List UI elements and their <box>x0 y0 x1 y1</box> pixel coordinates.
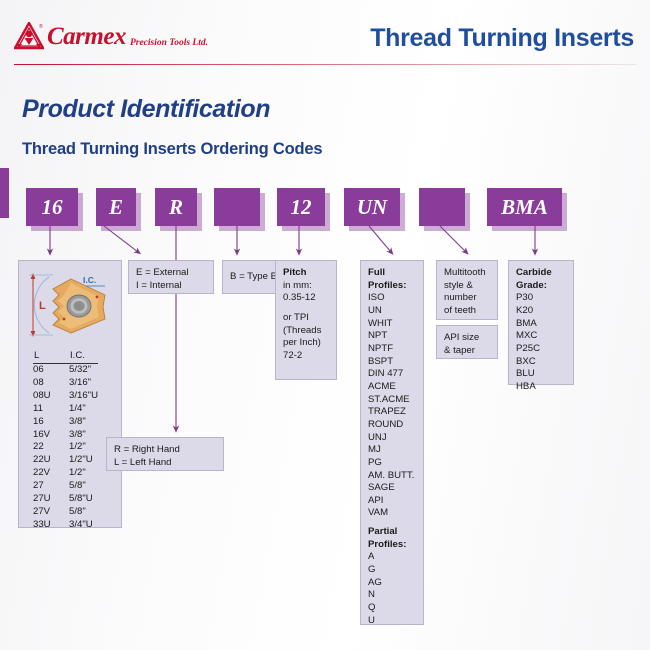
cell-ic: 1/2" <box>69 467 98 480</box>
full-profile-item: BSPT <box>368 356 416 369</box>
grade-item: BLU <box>516 368 566 381</box>
cell-l: 06 <box>33 363 69 376</box>
full-profile-item: AM. BUTT. <box>368 470 416 483</box>
multitooth-line2: style & <box>444 280 490 293</box>
page-root: ® Carmex Precision Tools Ltd. Thread Tur… <box>0 0 650 650</box>
hand-direction-box: R = Right Hand L = Left Hand <box>106 437 224 471</box>
table-row: 163/8" <box>33 416 98 429</box>
insert-size-box: L I.C. L <box>18 260 122 528</box>
full-profile-item: ISO <box>368 292 416 305</box>
grade-item: BMA <box>516 318 566 331</box>
partial-profile-item: A <box>368 551 416 564</box>
table-row: 22V1/2" <box>33 467 98 480</box>
full-profile-item: TRAPEZ <box>368 406 416 419</box>
table-row: 065/32" <box>33 363 98 376</box>
pitch-tpi-note1: (Threads <box>283 325 329 338</box>
full-profile-item: VAM <box>368 507 416 520</box>
multitooth-line4: of teeth <box>444 305 490 318</box>
code-box-size[interactable]: 16 <box>26 188 78 226</box>
pitch-tpi-note2: per Inch) <box>283 337 329 350</box>
api-line1: API size <box>444 332 490 345</box>
pitch-title: Pitch <box>283 267 329 280</box>
full-profile-item: ROUND <box>368 419 416 432</box>
brand-tagline: Precision Tools Ltd. <box>130 38 208 50</box>
grade-item: MXC <box>516 330 566 343</box>
table-row: 27V5/8" <box>33 506 98 519</box>
insert-diagram: L I.C. <box>19 261 121 347</box>
cell-l: 22U <box>33 454 69 467</box>
cell-l: 22 <box>33 441 69 454</box>
cell-ic: 1/4" <box>69 403 98 416</box>
carmex-triangle-icon: ® <box>14 22 44 50</box>
grade-list: P30K20BMAMXCP25CBXCBLUHBA <box>516 292 566 393</box>
svg-text:®: ® <box>39 23 43 30</box>
right-hand-line: R = Right Hand <box>114 444 216 457</box>
full-profile-item: ST.ACME <box>368 394 416 407</box>
cell-ic: 3/4"U <box>69 519 98 532</box>
full-profile-item: UNJ <box>368 432 416 445</box>
type-b-line: B = Type B <box>230 271 277 284</box>
brand-name: Carmex <box>47 24 126 49</box>
cell-l: 27U <box>33 493 69 506</box>
multitooth-line1: Multitooth <box>444 267 490 280</box>
col-header-ic: I.C. <box>69 349 98 363</box>
svg-text:L: L <box>39 300 46 312</box>
pitch-mm-label: in mm: <box>283 280 329 293</box>
code-box-hand-type[interactable]: E <box>96 188 136 226</box>
full-profile-item: API <box>368 495 416 508</box>
partial-profile-item: AG <box>368 577 416 590</box>
table-row: 16V3/8" <box>33 429 98 442</box>
full-profiles-title-1: Full <box>368 267 416 280</box>
external-internal-box: E = External I = Internal <box>128 260 214 294</box>
grade-title-2: Grade: <box>516 280 566 293</box>
cell-ic: 1/2" <box>69 441 98 454</box>
pitch-tpi-label: or TPI <box>283 312 329 325</box>
carmex-logo: ® Carmex Precision Tools Ltd. <box>14 22 208 50</box>
api-size-box: API size & taper <box>436 325 498 359</box>
full-profile-item: PG <box>368 457 416 470</box>
grade-title-1: Carbide <box>516 267 566 280</box>
cell-ic: 1/2"U <box>69 454 98 467</box>
cell-l: 08 <box>33 377 69 390</box>
code-box-type[interactable]: R <box>155 188 197 226</box>
multitooth-box: Multitooth style & number of teeth <box>436 260 498 320</box>
document-title: Thread Turning Inserts <box>370 24 634 53</box>
carbide-grade-box: Carbide Grade: P30K20BMAMXCP25CBXCBLUHBA <box>508 260 574 385</box>
full-profile-item: UN <box>368 305 416 318</box>
full-profile-item: MJ <box>368 444 416 457</box>
table-row: 111/4" <box>33 403 98 416</box>
multitooth-line3: number <box>444 292 490 305</box>
cell-ic: 3/16" <box>69 377 98 390</box>
code-box-multitooth[interactable] <box>419 188 465 226</box>
api-line2: & taper <box>444 345 490 358</box>
full-profile-item: NPT <box>368 330 416 343</box>
external-line: E = External <box>136 267 206 280</box>
table-row: 221/2" <box>33 441 98 454</box>
table-row: 22U1/2"U <box>33 454 98 467</box>
grade-item: HBA <box>516 381 566 394</box>
cell-l: 33U <box>33 519 69 532</box>
full-profile-item: NPTF <box>368 343 416 356</box>
full-profile-item: WHIT <box>368 318 416 331</box>
cell-l: 16V <box>33 429 69 442</box>
grade-item: BXC <box>516 356 566 369</box>
pitch-tpi-range: 72-2 <box>283 350 329 363</box>
profiles-box: Full Profiles: ISOUNWHITNPTNPTFBSPTDIN 4… <box>360 260 424 625</box>
cell-l: 08U <box>33 390 69 403</box>
grade-item: P25C <box>516 343 566 356</box>
left-hand-line: L = Left Hand <box>114 457 216 470</box>
code-box-grade[interactable]: BMA <box>487 188 562 226</box>
full-profiles-list: ISOUNWHITNPTNPTFBSPTDIN 477ACMEST.ACMETR… <box>368 292 416 520</box>
table-header-row: L I.C. <box>33 349 98 363</box>
page-header: ® Carmex Precision Tools Ltd. Thread Tur… <box>0 0 650 70</box>
partial-profile-item: G <box>368 564 416 577</box>
cell-l: 22V <box>33 467 69 480</box>
table-row: 27U5/8"U <box>33 493 98 506</box>
table-row: 33U3/4"U <box>33 519 98 532</box>
cell-l: 27 <box>33 480 69 493</box>
partial-profiles-title-2: Profiles: <box>368 539 416 552</box>
cell-l: 27V <box>33 506 69 519</box>
pitch-mm-range: 0.35-12 <box>283 292 329 305</box>
partial-profile-item: U <box>368 615 416 628</box>
partial-profile-item: Q <box>368 602 416 615</box>
code-box-profile[interactable]: UN <box>344 188 400 226</box>
partial-profiles-title-1: Partial <box>368 526 416 539</box>
cell-ic: 5/8"U <box>69 493 98 506</box>
cell-l: 11 <box>33 403 69 416</box>
grade-item: P30 <box>516 292 566 305</box>
code-box-pitch[interactable]: 12 <box>277 188 325 226</box>
partial-profiles-list: AGAGNQU <box>368 551 416 627</box>
table-row: 083/16" <box>33 377 98 390</box>
full-profile-item: ACME <box>368 381 416 394</box>
header-divider <box>14 64 636 65</box>
page-subtitle: Thread Turning Inserts Ordering Codes <box>22 140 322 159</box>
code-box-direction[interactable] <box>214 188 260 226</box>
internal-line: I = Internal <box>136 280 206 293</box>
cell-l: 16 <box>33 416 69 429</box>
cell-ic: 3/16"U <box>69 390 98 403</box>
cell-ic: 5/32" <box>69 363 98 376</box>
cell-ic: 3/8" <box>69 429 98 442</box>
table-row: 08U3/16"U <box>33 390 98 403</box>
full-profile-item: DIN 477 <box>368 368 416 381</box>
cell-ic: 5/8" <box>69 480 98 493</box>
col-header-l: L <box>33 349 69 363</box>
pitch-box: Pitch in mm: 0.35-12 or TPI (Threads per… <box>275 260 337 380</box>
svg-text:I.C.: I.C. <box>83 275 96 285</box>
full-profiles-title-2: Profiles: <box>368 280 416 293</box>
cell-ic: 3/8" <box>69 416 98 429</box>
partial-profile-item: N <box>368 589 416 602</box>
page-title: Product Identification <box>22 95 270 124</box>
table-row: 275/8" <box>33 480 98 493</box>
accent-bar <box>0 168 9 218</box>
grade-item: K20 <box>516 305 566 318</box>
full-profile-item: SAGE <box>368 482 416 495</box>
cell-ic: 5/8" <box>69 506 98 519</box>
